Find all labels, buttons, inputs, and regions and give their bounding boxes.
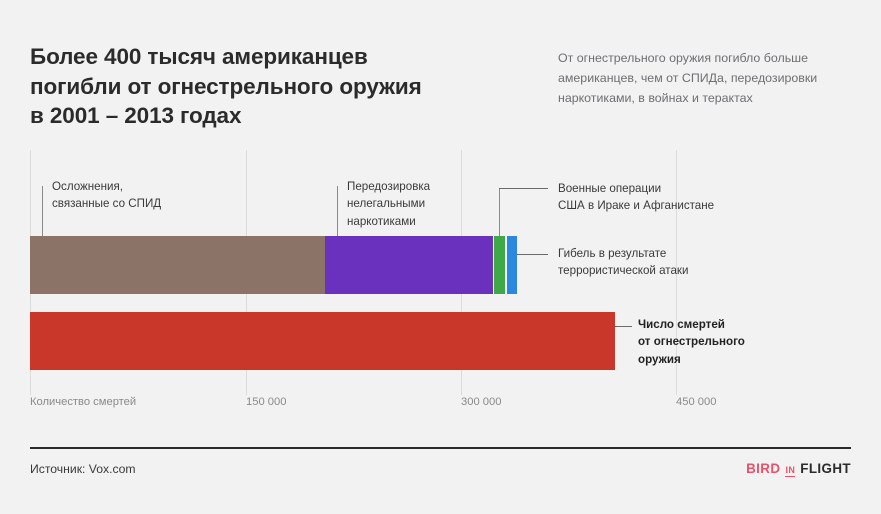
leader-line-wars-vertical xyxy=(499,188,500,236)
bar-segment-drug-overdose[interactable] xyxy=(325,236,493,294)
leader-line-wars-horizontal xyxy=(499,188,548,189)
footer-divider xyxy=(30,447,851,449)
axis-tick-150000: 150 000 xyxy=(246,396,286,408)
label-terrorism: Гибель в результате террористической ата… xyxy=(558,245,688,280)
bar-gun-deaths xyxy=(30,312,615,370)
leader-line-drug-overdose xyxy=(337,186,338,236)
chart-axis: Количество смертей 150 000 300 000 450 0… xyxy=(0,396,881,416)
bar-segment-terrorism[interactable] xyxy=(507,236,517,294)
axis-title-deaths-count: Количество смертей xyxy=(30,396,136,408)
axis-tick-450000: 450 000 xyxy=(676,396,716,408)
leader-line-terrorism xyxy=(517,254,548,255)
leader-line-gun-deaths xyxy=(615,326,632,327)
label-drug-overdose: Передозировка нелегальными наркотиками xyxy=(347,178,430,230)
label-gun-deaths: Число смертей от огнестрельного оружия xyxy=(638,316,745,368)
label-aids: Осложнения, связанные со СПИД xyxy=(52,178,161,213)
label-wars: Военные операции США в Ираке и Афганиста… xyxy=(558,180,714,215)
leader-line-aids xyxy=(42,186,43,236)
bar-segment-gun-deaths[interactable] xyxy=(30,312,615,370)
logo-word-flight: FLIGHT xyxy=(800,461,851,476)
infographic-canvas: Более 400 тысяч американцев погибли от о… xyxy=(0,0,881,514)
subtitle-text: От огнестрельного оружия погибло больше … xyxy=(558,48,858,108)
page-title: Более 400 тысяч американцев погибли от о… xyxy=(30,42,530,131)
bar-segment-aids[interactable] xyxy=(30,236,325,294)
bird-in-flight-logo[interactable]: BIRD IN FLIGHT xyxy=(746,461,851,477)
axis-tick-300000: 300 000 xyxy=(461,396,501,408)
bar-segment-wars[interactable] xyxy=(494,236,505,294)
stacked-bar-causes xyxy=(30,236,517,294)
logo-word-bird: BIRD xyxy=(746,461,780,476)
logo-word-in: IN xyxy=(785,466,795,477)
chart-plot-area: Осложнения, связанные со СПИД Передозиро… xyxy=(0,150,881,395)
source-credit: Источник: Vox.com xyxy=(30,462,136,476)
